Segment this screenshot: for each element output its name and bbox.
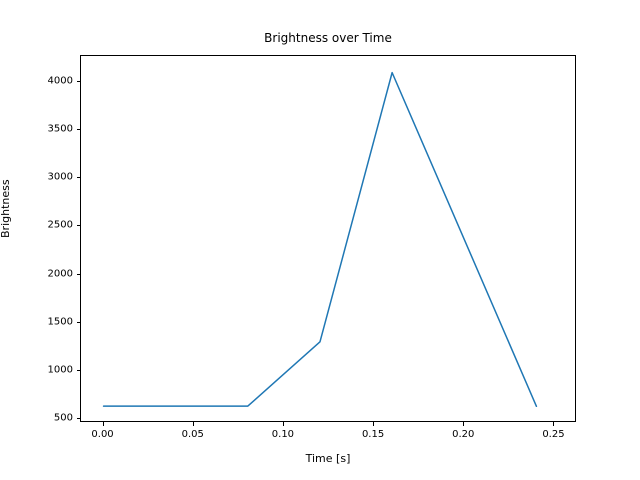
x-tick-label: 0.05 [182,429,204,440]
y-tick-label: 2500 [20,220,73,231]
chart-title: Brightness over Time [80,30,576,46]
x-tick-mark [103,422,104,426]
y-tick-label: 1500 [20,316,73,327]
y-tick-mark [77,274,81,275]
x-tick-mark [283,422,284,426]
y-tick-label: 1000 [20,364,73,375]
x-tick-mark [553,422,554,426]
x-tick-label: 0.20 [452,429,474,440]
y-tick-label: 3000 [20,172,73,183]
x-tick-mark [193,422,194,426]
y-axis-label: Brightness [0,179,12,238]
y-tick-mark [77,322,81,323]
y-tick-mark [77,418,81,419]
x-axis-label: Time [s] [80,452,576,465]
y-tick-label: 4000 [20,76,73,87]
matplotlib-figure: Brightness over Time Brightness 50010001… [0,0,640,480]
x-tick-label: 0.25 [542,429,564,440]
x-tick-mark [463,422,464,426]
y-tick-label: 2000 [20,268,73,279]
plot-area [80,55,576,422]
line-series-brightness [81,56,577,423]
y-tick-mark [77,129,81,130]
y-tick-label: 500 [20,412,73,423]
y-tick-mark [77,225,81,226]
x-tick-label: 0.10 [272,429,294,440]
y-tick-mark [77,177,81,178]
y-tick-mark [77,370,81,371]
y-tick-label: 3500 [20,124,73,135]
x-tick-label: 0.00 [91,429,113,440]
x-tick-label: 0.15 [362,429,384,440]
x-tick-mark [373,422,374,426]
y-tick-mark [77,81,81,82]
